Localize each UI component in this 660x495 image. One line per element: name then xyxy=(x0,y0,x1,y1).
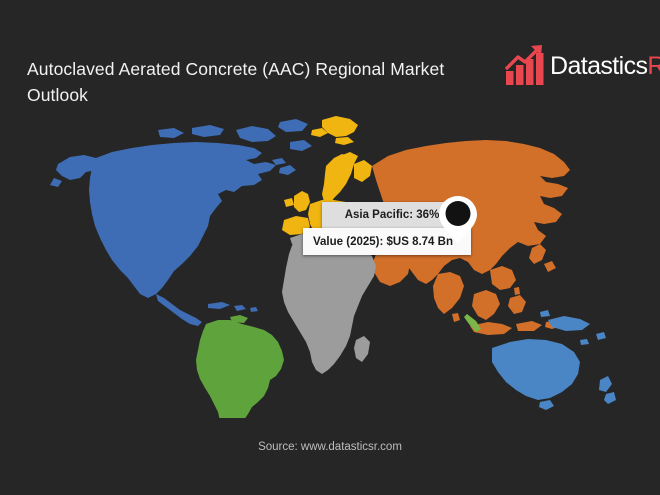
brand-logo[interactable]: DatasticsR xyxy=(505,44,637,88)
page-title: Autoclaved Aerated Concrete (AAC) Region… xyxy=(27,56,507,108)
logo-word-accent: R xyxy=(647,52,660,80)
infographic-canvas: Autoclaved Aerated Concrete (AAC) Region… xyxy=(0,0,660,495)
callout-region-label: Asia Pacific: 36% xyxy=(345,209,440,221)
map-region-oceania[interactable] xyxy=(492,310,616,410)
source-note: Source: www.datasticsr.com xyxy=(0,441,660,453)
map-region-north-america[interactable] xyxy=(50,119,312,326)
world-map xyxy=(40,108,620,418)
map-region-south-america[interactable] xyxy=(196,315,284,418)
logo-word-main: Datastics xyxy=(550,52,647,80)
logo-wordmark: DatasticsR xyxy=(550,52,660,81)
header: Autoclaved Aerated Concrete (AAC) Region… xyxy=(0,0,660,112)
map-pin-icon[interactable] xyxy=(437,194,479,244)
world-map-container[interactable] xyxy=(40,108,620,418)
map-region-middle-east-africa[interactable] xyxy=(282,234,376,374)
bar-chart-growth-arrow-icon xyxy=(505,44,551,86)
callout-value-label: Value (2025): $US 8.74 Bn xyxy=(313,236,453,248)
